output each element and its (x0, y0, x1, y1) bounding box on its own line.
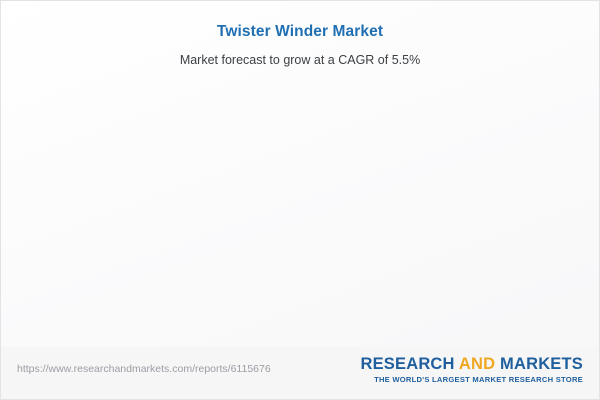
logo-wordmark: RESEARCH AND MARKETS (360, 355, 583, 374)
report-url[interactable]: https://www.researchandmarkets.com/repor… (17, 363, 271, 375)
logo-word-and: AND (459, 355, 495, 373)
chart-subtitle: Market forecast to grow at a CAGR of 5.5… (1, 53, 599, 67)
chart-card: Twister Winder Market Market forecast to… (0, 0, 600, 400)
logo-tagline: THE WORLD'S LARGEST MARKET RESEARCH STOR… (360, 375, 583, 384)
plot-area: 12.5 Billion 2025 19.2 Billion (1, 81, 600, 346)
brand-logo[interactable]: RESEARCH AND MARKETS THE WORLD'S LARGEST… (360, 355, 583, 384)
footer-bar: https://www.researchandmarkets.com/repor… (1, 347, 599, 399)
page-title: Twister Winder Market (1, 23, 599, 41)
logo-word-markets: MARKETS (500, 355, 583, 373)
logo-word-research: RESEARCH (360, 355, 454, 373)
